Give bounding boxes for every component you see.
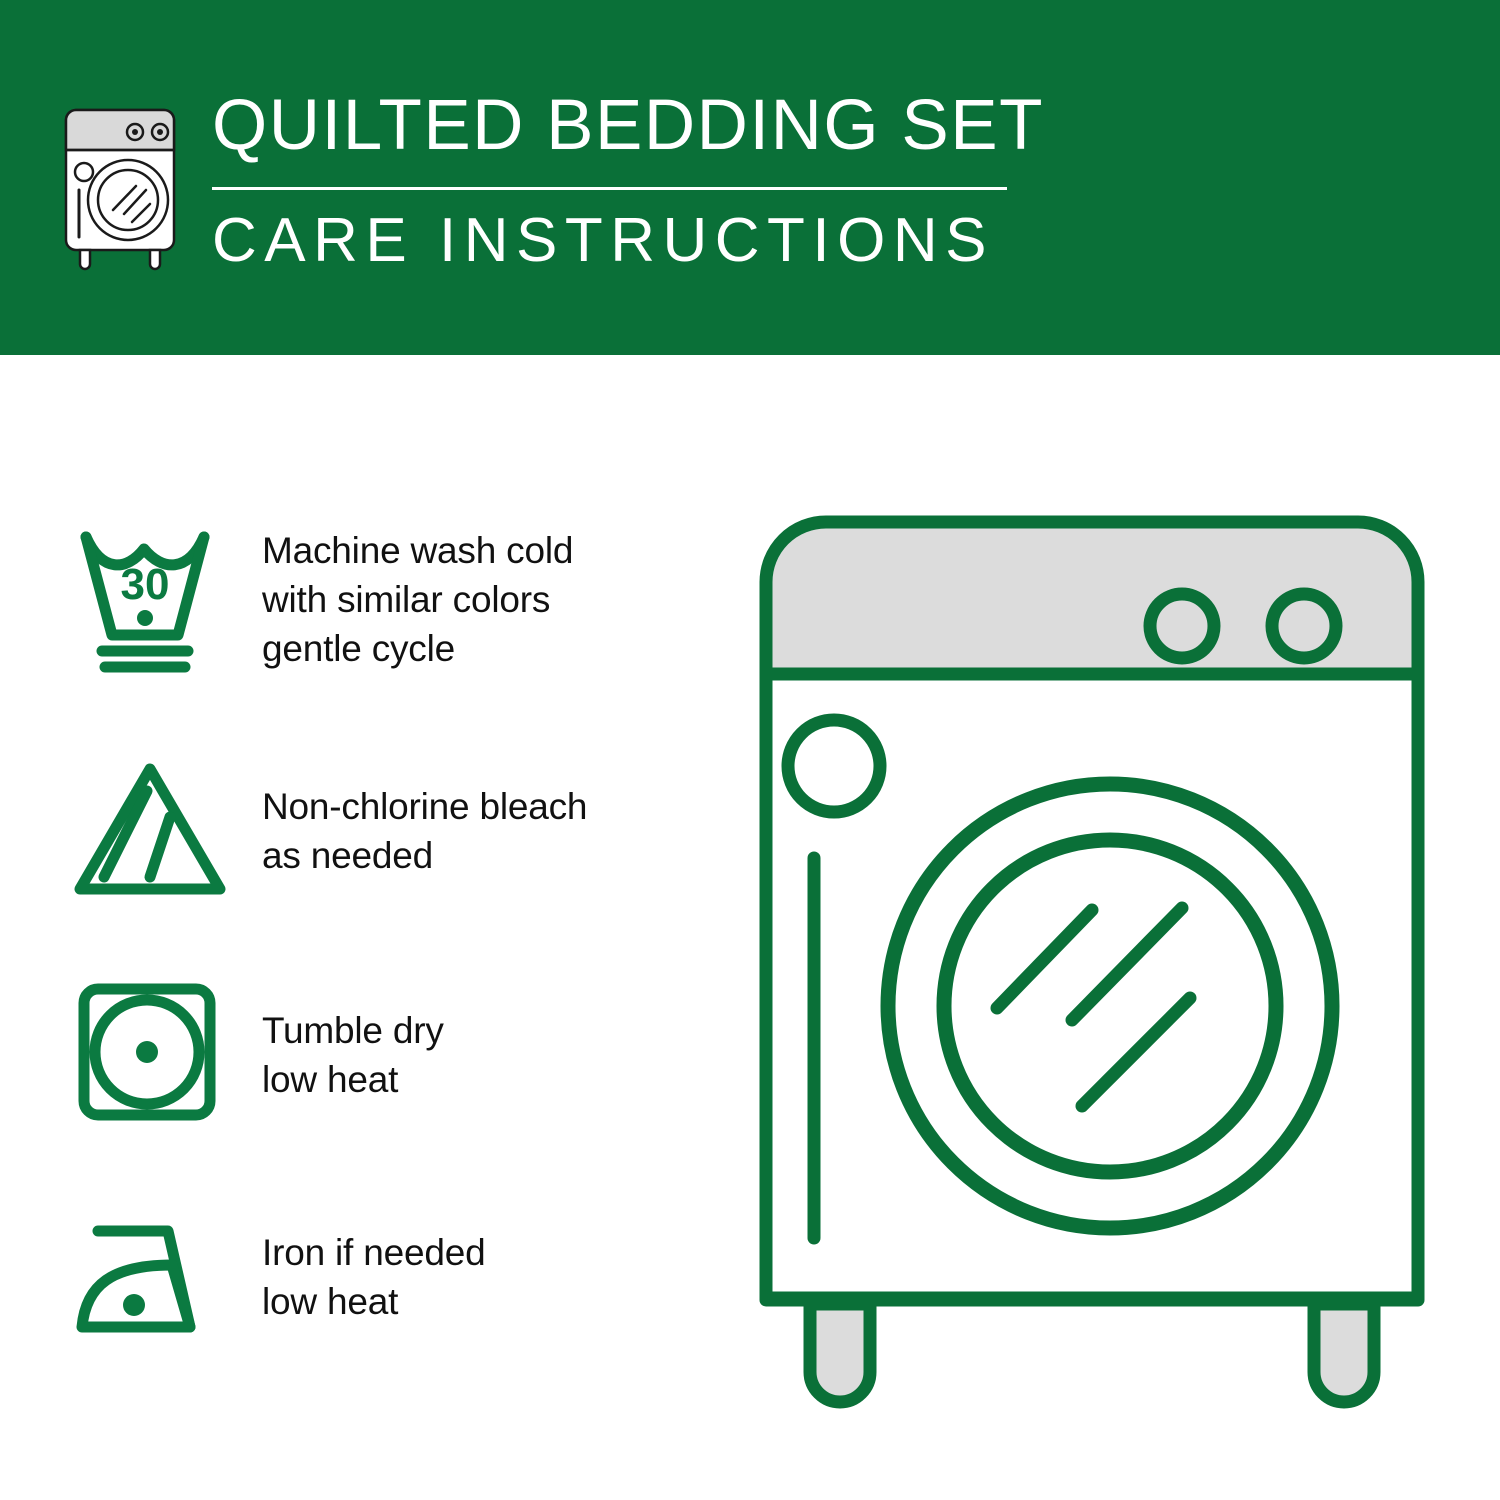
care-text-tumble-dry: Tumble dry low heat [262, 1007, 444, 1105]
care-text-machine-wash: Machine wash cold with similar colors ge… [262, 527, 573, 673]
title-block: QUILTED BEDDING SET CARE INSTRUCTIONS [208, 88, 1044, 272]
title-divider [212, 187, 1007, 190]
page-subtitle: CARE INSTRUCTIONS [208, 210, 1044, 272]
iron-heat-dot [123, 1294, 145, 1316]
care-line: low heat [262, 1056, 444, 1105]
care-instruction-list: 30 Machine wash cold with similar colors… [72, 505, 712, 1425]
indicator-dial[interactable] [788, 720, 880, 812]
care-symbol-slot [72, 977, 240, 1127]
care-symbol-slot [72, 1209, 240, 1359]
page-header: QUILTED BEDDING SET CARE INSTRUCTIONS [0, 0, 1500, 355]
wash-temp-label: 30 [121, 560, 170, 609]
care-line: Iron if needed [262, 1229, 485, 1278]
leg-right [1314, 1304, 1374, 1402]
care-text-iron: Iron if needed low heat [262, 1229, 485, 1327]
page-title: QUILTED BEDDING SET [208, 90, 1044, 161]
care-line: low heat [262, 1278, 485, 1327]
header-content: QUILTED BEDDING SET CARE INSTRUCTIONS [58, 88, 1044, 277]
care-line: gentle cycle [262, 625, 573, 674]
care-symbol-slot: 30 [72, 523, 240, 673]
care-row-iron: Iron if needed low heat [72, 1195, 712, 1425]
dryer-heat-dot [136, 1041, 158, 1063]
leg-left [810, 1304, 870, 1402]
care-line: Tumble dry [262, 1007, 444, 1056]
care-row-bleach: Non-chlorine bleach as needed [72, 735, 712, 965]
care-line: Non-chlorine bleach [262, 783, 587, 832]
washing-machine-icon [58, 102, 190, 277]
care-symbol-slot [72, 755, 240, 905]
washing-machine-illustration [742, 498, 1442, 1418]
non-chlorine-bleach-triangle-icon [72, 755, 240, 905]
wash-tub-30-gentle-icon: 30 [72, 523, 240, 673]
care-row-tumble-dry: Tumble dry low heat [72, 965, 712, 1195]
iron-low-heat-icon [72, 1209, 240, 1359]
gentle-dot [137, 610, 153, 626]
door-outer-ring[interactable] [888, 784, 1332, 1228]
tumble-dry-low-icon [72, 977, 240, 1127]
care-line: as needed [262, 832, 587, 881]
care-text-bleach: Non-chlorine bleach as needed [262, 783, 587, 881]
care-line: with similar colors [262, 576, 573, 625]
care-line: Machine wash cold [262, 527, 573, 576]
care-row-machine-wash: 30 Machine wash cold with similar colors… [72, 505, 712, 735]
